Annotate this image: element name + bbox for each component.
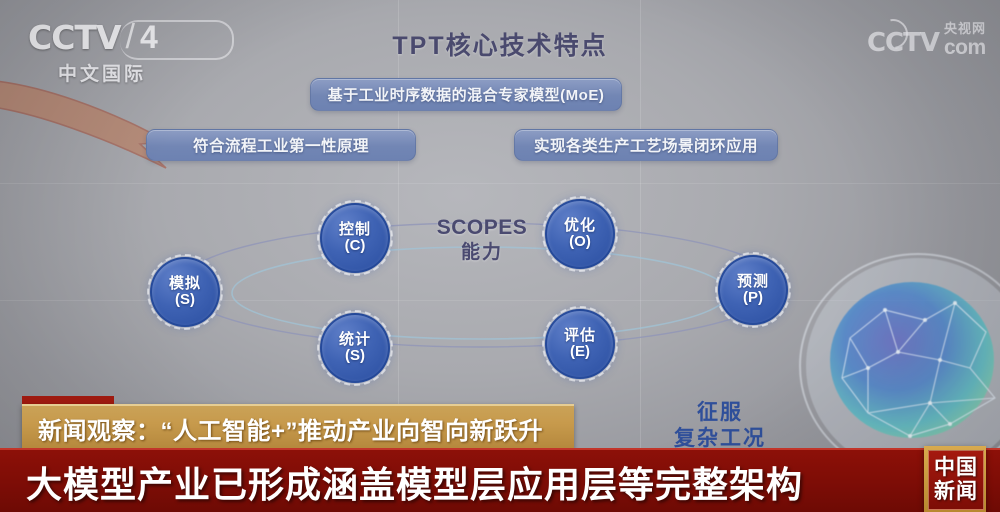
subheadline-text: 新闻观察：“人工智能+”推动产业向智向新跃升	[38, 411, 543, 446]
program-badge-line1: 中国	[934, 456, 978, 480]
node-dashed-ring	[317, 310, 393, 386]
wall-seam-horizontal	[0, 183, 1000, 184]
node-dashed-ring	[147, 254, 223, 330]
scopes-center-cn: 能力	[408, 241, 556, 265]
slide-caption: 征服 复杂工况	[660, 400, 780, 451]
subheadline-bar: 新闻观察：“人工智能+”推动产业向智向新跃升	[22, 404, 574, 450]
slide-title: TPT核心技术特点	[0, 26, 1000, 62]
headline-bar: 大模型产业已形成涵盖模型层应用层等完整架构	[0, 448, 1000, 512]
scopes-node-prediction[interactable]: 预测 (P)	[718, 255, 788, 325]
program-badge: 中国 新闻	[924, 446, 986, 512]
scopes-node-simulation[interactable]: 模拟 (S)	[150, 257, 220, 327]
slide-pill-moe: 基于工业时序数据的混合专家模型(MoE)	[310, 78, 622, 111]
slide-pill-first-principles: 符合流程工业第一性原理	[146, 129, 416, 161]
scopes-center-en: SCOPES	[408, 215, 556, 241]
slide-pill-closed-loop: 实现各类生产工艺场景闭环应用	[514, 129, 778, 161]
scopes-node-evaluation[interactable]: 评估 (E)	[545, 309, 615, 379]
scopes-node-statistics[interactable]: 统计 (S)	[320, 313, 390, 383]
node-dashed-ring	[715, 252, 791, 328]
headline-text: 大模型产业已形成涵盖模型层应用层等完整架构	[26, 456, 803, 508]
program-badge-line2: 新闻	[934, 480, 978, 504]
node-dashed-ring	[317, 200, 393, 276]
slide-caption-line1: 征服	[660, 400, 780, 426]
scopes-center-label: SCOPES 能力	[408, 215, 556, 265]
node-dashed-ring	[542, 306, 618, 382]
scopes-diagram: 模拟 (S) 控制 (C) 统计 (S) 优化 (O) 评估 (E) 预测 (P…	[120, 185, 840, 385]
scopes-node-control[interactable]: 控制 (C)	[320, 203, 390, 273]
logo-subtitle: 中文国际	[58, 59, 228, 86]
broadcast-screen: CCTV / 4 中文国际 CCTV 央视网 com TPT核心技术特点 基于工…	[0, 0, 1000, 512]
